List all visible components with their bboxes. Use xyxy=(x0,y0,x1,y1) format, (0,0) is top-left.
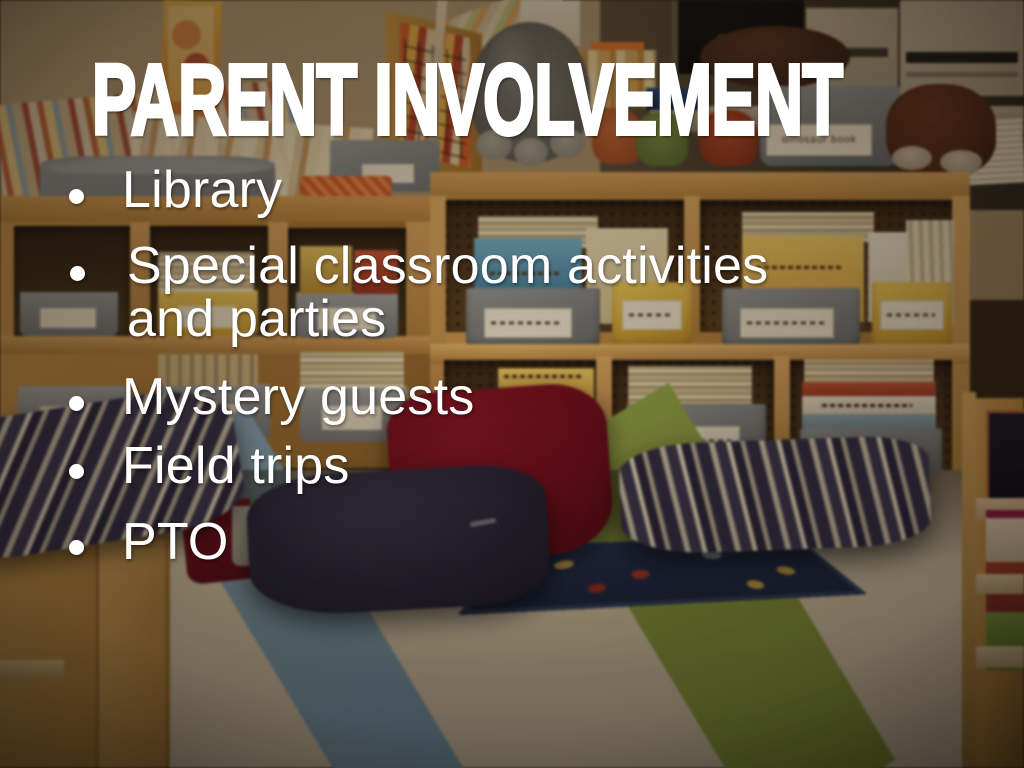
list-item: Field trips xyxy=(60,440,960,494)
list-item: Library xyxy=(60,164,960,218)
list-item-label: Special classroom activities and parties xyxy=(127,240,768,347)
list-item: Mystery guests xyxy=(60,371,960,425)
bullet-dot-icon xyxy=(70,266,85,281)
bullet-dot-icon xyxy=(69,540,84,555)
list-item: PTO xyxy=(60,516,960,570)
bullet-dot-icon xyxy=(69,396,84,411)
list-item-label: Field trips xyxy=(122,440,350,494)
list-item-label: PTO xyxy=(122,516,229,570)
list-item-label: Library xyxy=(122,164,282,218)
slide-canvas: dinosaur book xyxy=(0,0,1024,768)
bullet-dot-icon xyxy=(69,189,84,204)
list-item: Special classroom activities and parties xyxy=(60,240,960,347)
page-title: PARENT INVOLVEMENT xyxy=(92,52,654,148)
bullet-list: Library Special classroom activities and… xyxy=(60,164,960,569)
list-item-label: Mystery guests xyxy=(122,371,474,425)
bullet-dot-icon xyxy=(69,464,84,479)
